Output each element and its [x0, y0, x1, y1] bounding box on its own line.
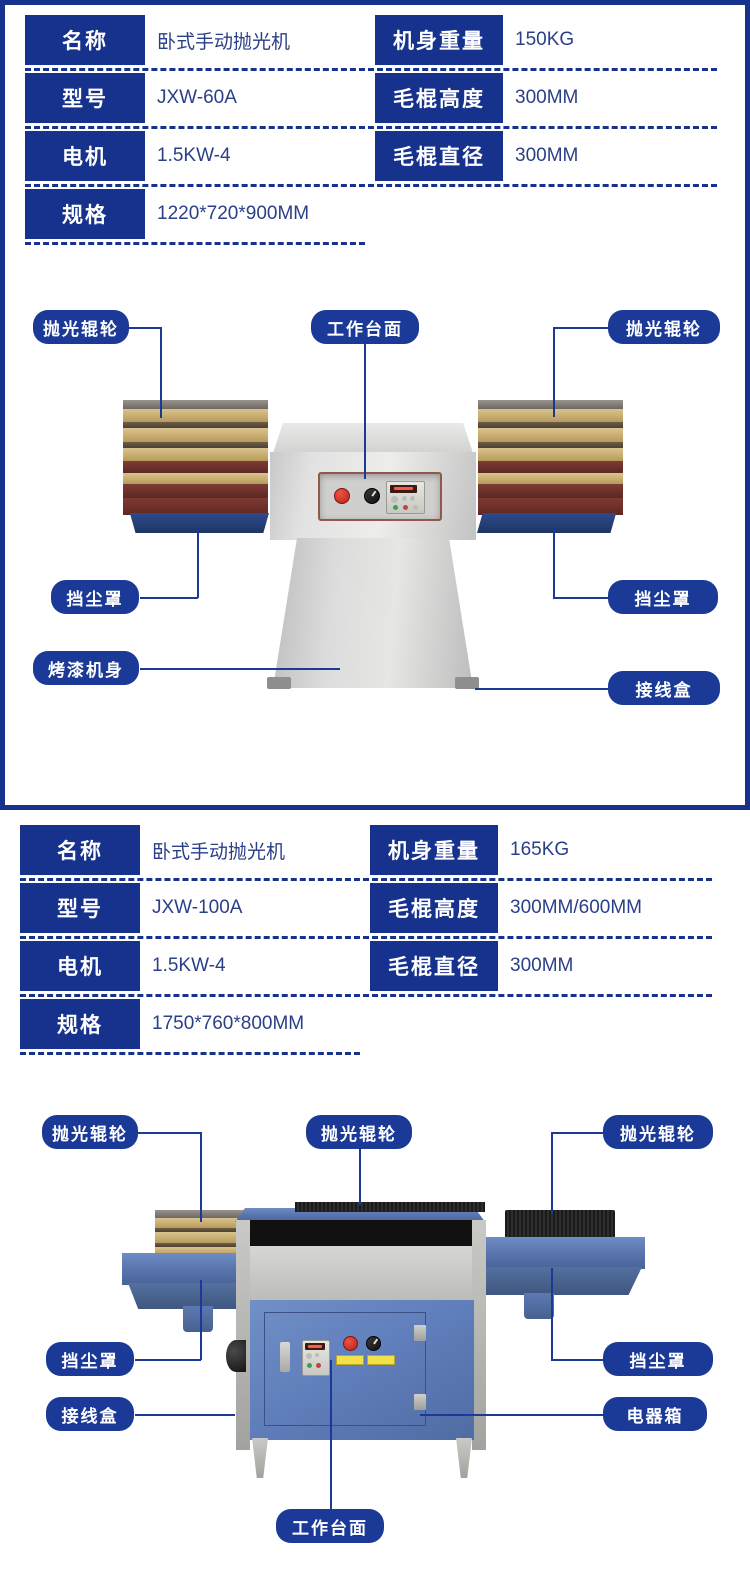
spec-key: 型号: [25, 73, 145, 123]
vfd-key[interactable]: [402, 496, 407, 501]
product-section-jxw100a: 名称 卧式手动抛光机 机身重量 165KG 型号 JXW-100A 毛棍高度 3…: [0, 810, 750, 1575]
callout-polishing-roller-left[interactable]: 抛光辊轮: [33, 310, 129, 344]
electrical-cabinet-photo: [250, 1300, 474, 1440]
callout-dust-cover-right[interactable]: 挡尘罩: [603, 1342, 713, 1376]
machine-head-top: [273, 423, 473, 453]
leader-line: [138, 1132, 201, 1134]
door-hinge-bottom: [414, 1394, 426, 1410]
vfd-dial[interactable]: [391, 496, 398, 503]
vfd-screen: [305, 1343, 325, 1350]
polishing-roller-left-photo: [123, 400, 268, 515]
spec-value: 1.5KW-4: [152, 941, 226, 991]
machine-column-left: [236, 1220, 250, 1450]
leader-line: [200, 1132, 202, 1222]
spec-key: 毛棍直径: [375, 131, 503, 181]
spec-value: 300MM: [515, 73, 578, 123]
spec-value: 150KG: [515, 15, 574, 65]
emergency-stop-button[interactable]: [343, 1336, 358, 1351]
product-photo-jxw100a: [0, 1090, 750, 1540]
spec-value: JXW-60A: [157, 73, 237, 123]
spec-value: 卧式手动抛光机: [157, 15, 290, 65]
row-divider: [25, 68, 717, 71]
leader-line: [160, 327, 162, 418]
polishing-roller-center-photo: [295, 1202, 485, 1212]
leader-line: [553, 597, 608, 599]
spec-row: 型号 JXW-100A 毛棍高度 300MM/600MM: [0, 883, 750, 941]
leader-line: [551, 1132, 553, 1214]
emergency-stop-button[interactable]: [334, 488, 350, 504]
leader-line: [551, 1359, 603, 1361]
product-photo-jxw60a: [5, 285, 750, 705]
spec-key: 毛棍高度: [370, 883, 498, 933]
machine-head-body: [270, 452, 476, 540]
dust-chute-left: [183, 1306, 213, 1332]
leader-line: [135, 1414, 235, 1416]
machine-upper-frame: [240, 1246, 482, 1306]
label-tag: [367, 1355, 395, 1365]
junction-box-photo: [226, 1340, 246, 1372]
spec-key: 毛棍直径: [370, 941, 498, 991]
spec-key: 名称: [20, 825, 140, 875]
row-divider: [25, 126, 717, 129]
vfd-key[interactable]: [315, 1353, 319, 1357]
row-divider: [20, 994, 712, 997]
callout-work-table[interactable]: 工作台面: [276, 1509, 384, 1543]
vfd-display-unit[interactable]: [386, 481, 425, 514]
product-section-jxw60a: 名称 卧式手动抛光机 机身重量 150KG 型号 JXW-60A 毛棍高度 30…: [0, 0, 750, 810]
spec-row: 名称 卧式手动抛光机 机身重量 150KG: [5, 15, 745, 73]
row-divider: [20, 1052, 360, 1055]
callout-electrical-cabinet[interactable]: 电器箱: [603, 1397, 707, 1431]
spec-key: 电机: [25, 131, 145, 181]
spec-key: 规格: [25, 189, 145, 239]
leader-line: [553, 327, 608, 329]
spec-key: 机身重量: [370, 825, 498, 875]
dust-chute-right: [524, 1293, 554, 1319]
support-leg-left: [252, 1438, 268, 1478]
callout-junction-box[interactable]: 接线盒: [608, 671, 720, 705]
spec-row: 规格 1220*720*900MM: [5, 189, 745, 247]
callout-painted-body[interactable]: 烤漆机身: [33, 651, 139, 685]
leader-line: [200, 1280, 202, 1360]
row-divider: [25, 242, 365, 245]
callout-polishing-roller-right[interactable]: 抛光辊轮: [603, 1115, 713, 1149]
vfd-run-key[interactable]: [307, 1363, 312, 1368]
leader-line: [140, 597, 198, 599]
vfd-key[interactable]: [413, 505, 418, 510]
leader-line: [135, 1359, 201, 1361]
polishing-roller-right-photo: [505, 1210, 615, 1238]
spec-value: 165KG: [510, 825, 569, 875]
leader-line: [197, 528, 199, 598]
callout-polishing-roller-left[interactable]: 抛光辊轮: [42, 1115, 138, 1149]
painted-body-photo: [273, 538, 473, 688]
dust-cover-right-skirt: [474, 1267, 642, 1295]
dust-cover-right-photo: [470, 1237, 645, 1269]
callout-polishing-roller-right[interactable]: 抛光辊轮: [608, 310, 720, 344]
callout-dust-cover-left[interactable]: 挡尘罩: [46, 1342, 134, 1376]
vfd-stop-key[interactable]: [316, 1363, 321, 1368]
leader-line: [553, 528, 555, 598]
row-divider: [25, 184, 717, 187]
vfd-key[interactable]: [410, 496, 415, 501]
leader-line: [553, 327, 555, 417]
row-divider: [20, 878, 712, 881]
callout-dust-cover-right[interactable]: 挡尘罩: [608, 580, 718, 614]
leader-line: [330, 1360, 332, 1526]
label-tag: [336, 1355, 364, 1365]
control-panel: [318, 472, 442, 521]
spec-value: 300MM/600MM: [510, 883, 642, 933]
callout-polishing-roller-center[interactable]: 抛光辊轮: [306, 1115, 412, 1149]
callout-work-table[interactable]: 工作台面: [311, 310, 419, 344]
spec-value: 1220*720*900MM: [157, 189, 309, 239]
spec-row: 型号 JXW-60A 毛棍高度 300MM: [5, 73, 745, 131]
vfd-stop-key[interactable]: [403, 505, 408, 510]
polishing-roller-right-photo: [478, 400, 623, 515]
spec-value: 300MM: [510, 941, 573, 991]
spec-table-jxw100a: 名称 卧式手动抛光机 机身重量 165KG 型号 JXW-100A 毛棍高度 3…: [0, 825, 750, 1057]
door-hinge-top: [414, 1325, 426, 1341]
spec-value: JXW-100A: [152, 883, 242, 933]
spec-key: 毛棍高度: [375, 73, 503, 123]
support-leg-right: [456, 1438, 472, 1478]
vfd-dial[interactable]: [306, 1353, 312, 1359]
spec-key: 规格: [20, 999, 140, 1049]
vfd-screen: [390, 485, 417, 493]
callout-junction-box[interactable]: 接线盒: [46, 1397, 134, 1431]
leader-line: [129, 327, 161, 329]
leader-line: [475, 688, 608, 690]
spec-value: 1750*760*800MM: [152, 999, 304, 1049]
spec-row: 规格 1750*760*800MM: [0, 999, 750, 1057]
leader-line: [140, 668, 340, 670]
row-divider: [20, 936, 712, 939]
spec-key: 名称: [25, 15, 145, 65]
spec-key: 机身重量: [375, 15, 503, 65]
dust-cover-right-photo: [477, 513, 619, 533]
door-latch[interactable]: [280, 1342, 290, 1372]
leader-line: [551, 1132, 603, 1134]
spec-value: 300MM: [515, 131, 578, 181]
spec-key: 电机: [20, 941, 140, 991]
leader-line: [551, 1268, 553, 1360]
callout-dust-cover-left[interactable]: 挡尘罩: [51, 580, 139, 614]
selector-knob[interactable]: [366, 1336, 381, 1351]
spec-key: 型号: [20, 883, 140, 933]
spec-table-jxw60a: 名称 卧式手动抛光机 机身重量 150KG 型号 JXW-60A 毛棍高度 30…: [5, 15, 745, 247]
leader-line: [420, 1414, 603, 1416]
spec-row: 名称 卧式手动抛光机 机身重量 165KG: [0, 825, 750, 883]
vfd-display-unit[interactable]: [302, 1340, 330, 1376]
spec-row: 电机 1.5KW-4 毛棍直径 300MM: [0, 941, 750, 999]
selector-knob[interactable]: [364, 488, 380, 504]
spec-value: 1.5KW-4: [157, 131, 231, 181]
spec-row: 电机 1.5KW-4 毛棍直径 300MM: [5, 131, 745, 189]
leader-line: [364, 329, 366, 479]
machine-foot-left: [267, 677, 291, 689]
spec-value: 卧式手动抛光机: [152, 825, 285, 875]
table-opening: [242, 1220, 480, 1248]
vfd-run-key[interactable]: [393, 505, 398, 510]
